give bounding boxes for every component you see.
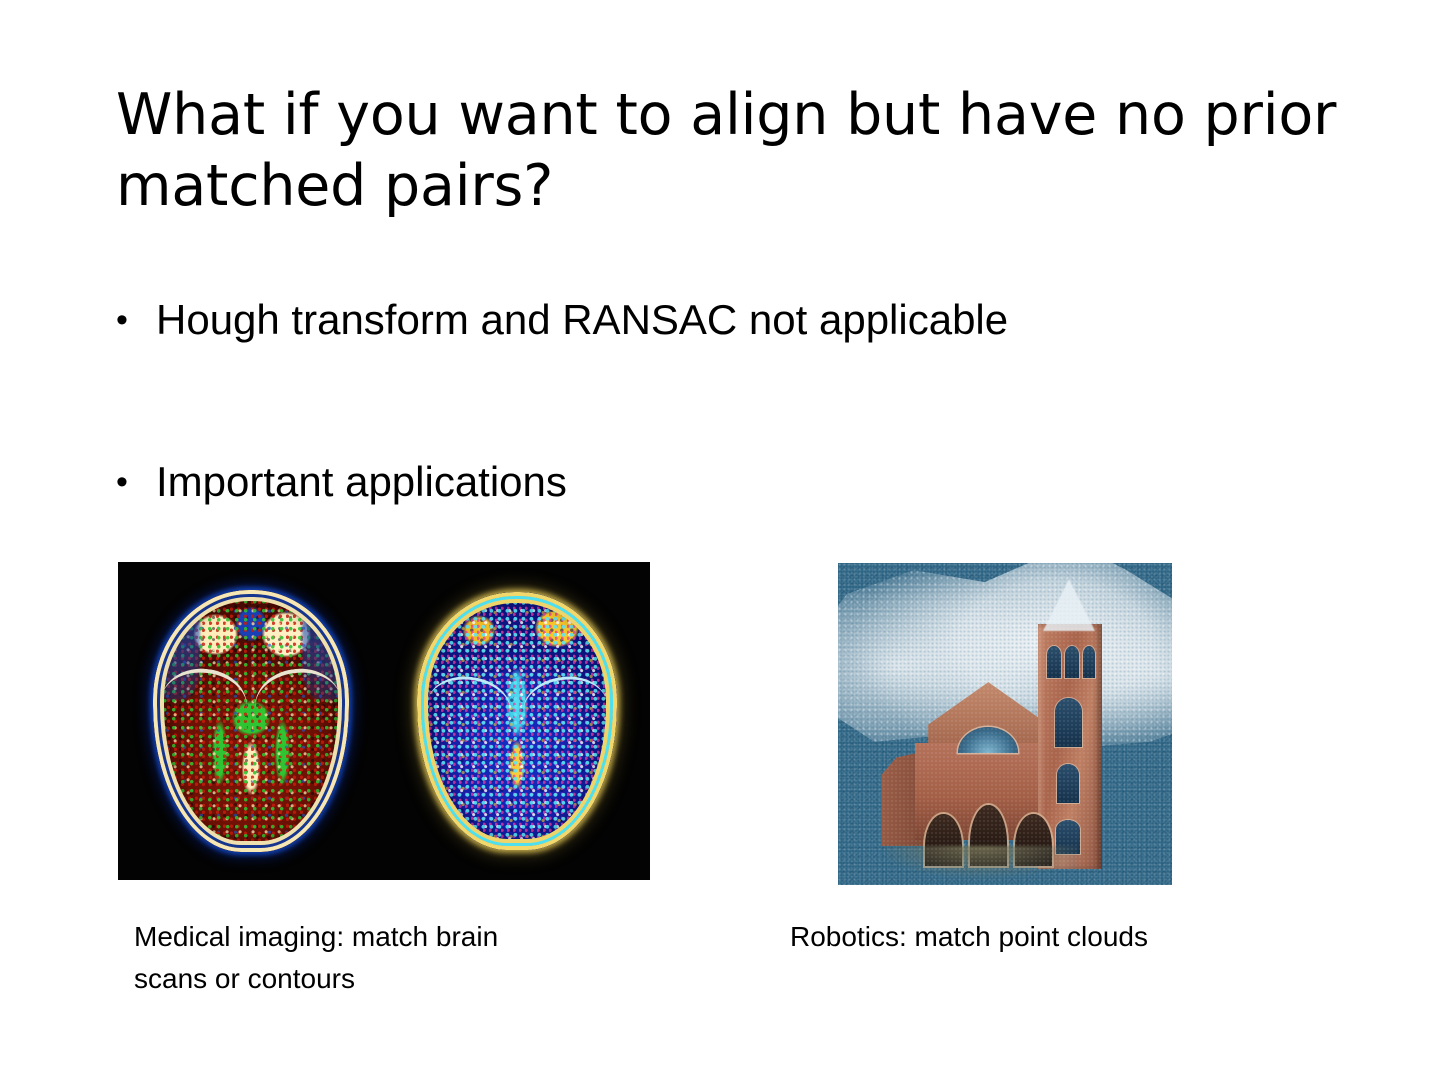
brain-scan-right — [384, 562, 650, 880]
figure-medical-imaging — [118, 562, 650, 880]
cathedral-point-cloud-image — [838, 563, 1172, 885]
brain-outline-left — [153, 590, 349, 852]
page-title: What if you want to align but have no pr… — [116, 80, 1346, 222]
brain-scan-left — [118, 562, 384, 880]
bullet-dot-icon: • — [112, 455, 156, 509]
caption-medical-imaging: Medical imaging: match brain scans or co… — [134, 916, 604, 1000]
bullet-item-hough-ransac: • Hough transform and RANSAC not applica… — [112, 293, 1312, 347]
point-cloud-sparse-points — [838, 563, 1172, 885]
bullet-item-label: Hough transform and RANSAC not applicabl… — [156, 293, 1312, 347]
bullet-item-label: Important applications — [156, 455, 1312, 509]
brain-scan-pair-image — [118, 562, 650, 880]
bullet-dot-icon: • — [112, 293, 156, 347]
caption-robotics: Robotics: match point clouds — [790, 916, 1260, 958]
bullet-list: • Hough transform and RANSAC not applica… — [112, 293, 1312, 509]
brain-skull-rim — [153, 590, 349, 852]
brain-outline-right — [417, 592, 617, 850]
brain-skull-rim — [417, 592, 617, 850]
bullet-item-important-applications: • Important applications — [112, 455, 1312, 509]
figure-robotics-point-cloud — [838, 563, 1172, 885]
